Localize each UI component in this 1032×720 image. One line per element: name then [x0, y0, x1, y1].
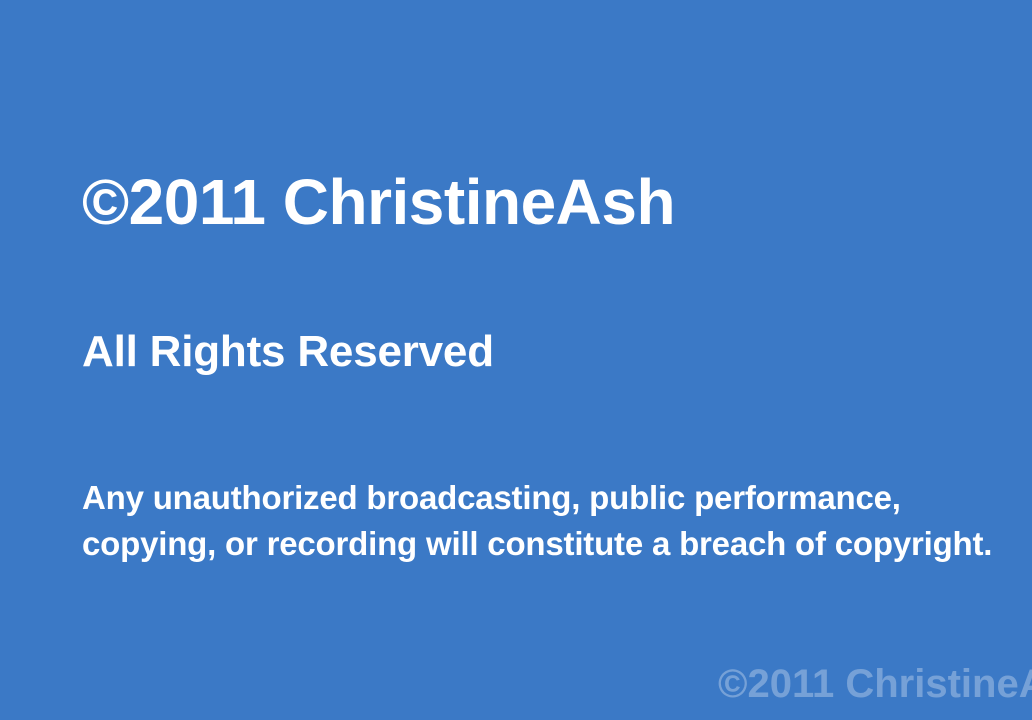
- copyright-title: ©2011 ChristineAsh: [82, 170, 675, 234]
- copyright-notice: Any unauthorized broadcasting, public pe…: [82, 475, 992, 567]
- copyright-slide: ©2011 ChristineAsh All Rights Reserved A…: [0, 0, 1032, 720]
- copyright-notice-line-1: Any unauthorized broadcasting, public pe…: [82, 475, 992, 521]
- copyright-notice-line-2: copying, or recording will constitute a …: [82, 521, 992, 567]
- slide-content: ©2011 ChristineAsh All Rights Reserved A…: [82, 0, 1032, 720]
- copyright-watermark: ©2011 ChristineAsh: [718, 664, 1032, 704]
- rights-statement: All Rights Reserved: [82, 330, 494, 374]
